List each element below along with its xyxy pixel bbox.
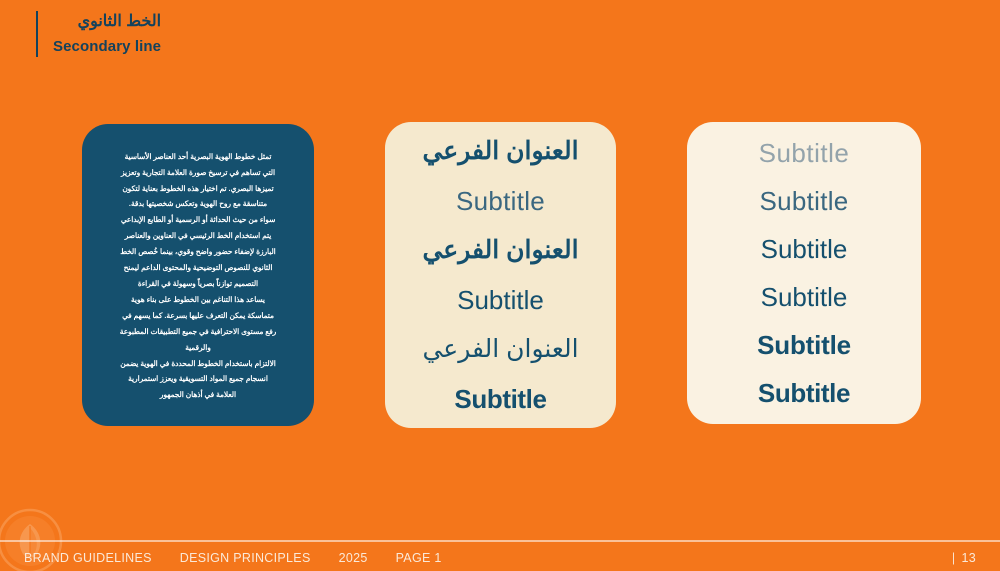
weight-ramp-card: Subtitle Subtitle Subtitle Subtitle Subt…	[687, 122, 921, 424]
paragraph-line: تمثل خطوط الهوية البصرية أحد العناصر الأ…	[96, 149, 300, 165]
header-accent-bar	[36, 11, 38, 57]
paragraph-line: الالتزام باستخدام الخطوط المحددة في الهو…	[96, 356, 300, 372]
paragraph-line: العلامة في أذهان الجمهور	[96, 387, 300, 403]
paragraph-line: متماسكة يمكن التعرف عليها بسرعة. كما يسه…	[96, 308, 300, 324]
paragraph-line: الثانوي للنصوص التوضيحية والمحتوى الداعم…	[96, 260, 300, 276]
weight-row-regular: Subtitle	[687, 236, 921, 262]
slide-footer: BRAND GUIDELINES DESIGN PRINCIPLES 2025 …	[0, 545, 1000, 571]
footer-page-number-group: | 13	[952, 551, 976, 565]
footer-separator: |	[952, 551, 956, 565]
paragraph-line: سواء من حيث الحداثة أو الرسمية أو الطابع…	[96, 212, 300, 228]
slide-header: الخط الثانوي Secondary line	[36, 11, 161, 57]
footer-item-brand-guidelines: BRAND GUIDELINES	[24, 551, 152, 565]
paragraph-line: انسجام جميع المواد التسويقية ويعزز استمر…	[96, 371, 300, 387]
paragraph-line: البارزة لإضفاء حضور واضح وقوي، بينما خُص…	[96, 244, 300, 260]
paragraph-line: والرقمية	[96, 340, 300, 356]
weight-row-bold: Subtitle	[687, 380, 921, 406]
weight-row-medium: Subtitle	[687, 284, 921, 310]
specimen-row-arabic-semibold-2: العنوان الفرعي	[385, 238, 616, 263]
paragraph-line: يساعد هذا التناغم بين الخطوط على بناء هو…	[96, 292, 300, 308]
mixed-specimen-card: العنوان الفرعي Subtitle العنوان الفرعي S…	[385, 122, 616, 428]
specimen-row-arabic-medium: العنوان الفرعي	[385, 337, 616, 362]
paragraph-line: يتم استخدام الخط الرئيسي في العناوين وال…	[96, 228, 300, 244]
footer-item-page-label: PAGE 1	[396, 551, 442, 565]
specimen-row-latin-light: Subtitle	[385, 188, 616, 214]
paragraph-line: التي تساهم في ترسيخ صورة العلامة التجاري…	[96, 165, 300, 181]
footer-item-year: 2025	[339, 551, 368, 565]
weight-row-semibold: Subtitle	[687, 332, 921, 358]
header-title-english: Secondary line	[53, 36, 161, 57]
weight-row-thin: Subtitle	[687, 140, 921, 166]
weight-row-light: Subtitle	[687, 188, 921, 214]
footer-item-design-principles: DESIGN PRINCIPLES	[180, 551, 311, 565]
specimen-row-arabic-semibold: العنوان الفرعي	[385, 139, 616, 164]
paragraph-card: تمثل خطوط الهوية البصرية أحد العناصر الأ…	[82, 124, 314, 426]
paragraph-line: متناسقة مع روح الهوية وتعكس شخصيتها بدقة…	[96, 196, 300, 212]
specimen-row-latin-regular: Subtitle	[385, 287, 616, 313]
footer-page-number: 13	[961, 551, 976, 565]
paragraph-line: تميزها البصري. تم اختيار هذه الخطوط بعنا…	[96, 181, 300, 197]
paragraph-line: التصميم توازناً بصرياً وسهولة في القراءة	[96, 276, 300, 292]
footer-item-group: BRAND GUIDELINES DESIGN PRINCIPLES 2025 …	[24, 551, 470, 565]
paragraph-line: رفع مستوى الاحترافية في جميع التطبيقات ا…	[96, 324, 300, 340]
footer-divider	[0, 540, 1000, 542]
header-title-arabic: الخط الثانوي	[53, 11, 161, 33]
header-text-group: الخط الثانوي Secondary line	[53, 11, 161, 57]
specimen-row-latin-bold: Subtitle	[385, 386, 616, 412]
slide-canvas: الخط الثانوي Secondary line تمثل خطوط ال…	[0, 0, 1000, 571]
